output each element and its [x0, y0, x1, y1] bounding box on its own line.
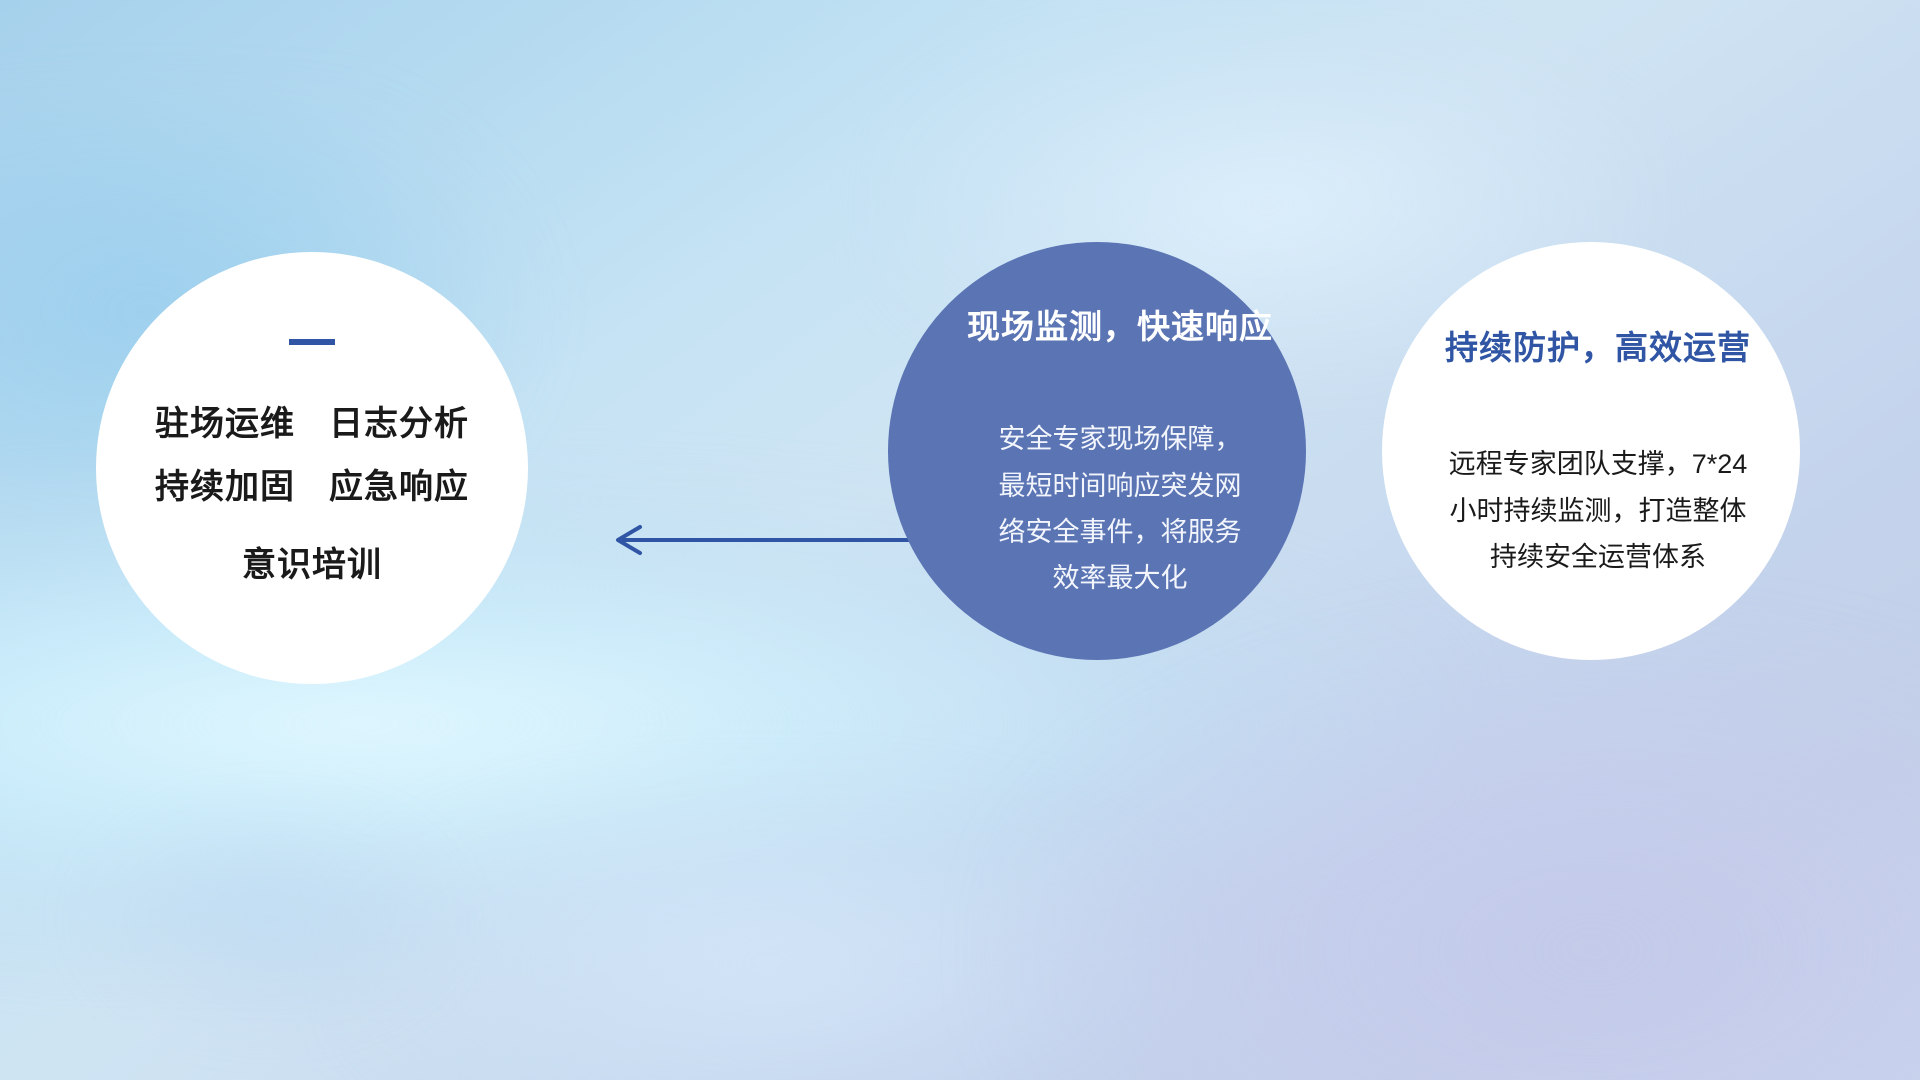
onsite-title: 现场监测，快速响应: [967, 300, 1273, 348]
onsite-monitoring-circle[interactable]: 现场监测，快速响应 安全专家现场保障， 最短时间响应突发网 络安全事件，将服务 …: [888, 242, 1306, 660]
skill-tag-group: 驻场运维 日志分析 持续加固 应急响应 意识培训: [155, 393, 469, 598]
continuous-protection-circle[interactable]: 持续防护，高效运营 远程专家团队支撑，7*24 小时持续监测，打造整体 持续安全…: [1382, 242, 1800, 660]
leftward-flow-arrow: [600, 520, 920, 560]
background-glow-bottom-left: [77, 799, 461, 1037]
onsite-description-line: 最短时间响应突发网: [970, 463, 1270, 509]
ops-content: 持续防护，高效运营 远程专家团队支撑，7*24 小时持续监测，打造整体 持续安全…: [1409, 321, 1773, 580]
onsite-description-line: 络安全事件，将服务: [970, 509, 1270, 555]
onsite-description-line: 安全专家现场保障，: [970, 416, 1270, 462]
skill-tag[interactable]: 应急响应: [329, 456, 469, 519]
skill-row: 驻场运维 日志分析: [155, 393, 469, 456]
onsite-description-line: 效率最大化: [970, 555, 1270, 601]
ops-description: 远程专家团队支撑，7*24 小时持续监测，打造整体 持续安全运营体系: [1422, 441, 1774, 580]
skill-row: 持续加固 应急响应: [155, 456, 469, 519]
onsite-description: 安全专家现场保障， 最短时间响应突发网 络安全事件，将服务 效率最大化: [970, 416, 1270, 602]
background-glow-bottom-right: [998, 626, 1920, 1080]
capability-skills-circle[interactable]: 驻场运维 日志分析 持续加固 应急响应 意识培训: [96, 252, 528, 684]
onsite-content: 现场监测，快速响应 安全专家现场保障， 最短时间响应突发网 络安全事件，将服务 …: [909, 300, 1285, 602]
ops-description-line: 小时持续监测，打造整体: [1422, 488, 1774, 534]
skill-tag[interactable]: 持续加固: [155, 456, 295, 519]
accent-dash-divider: [289, 339, 335, 345]
ops-title: 持续防护，高效运营: [1445, 321, 1751, 369]
ops-description-line: 远程专家团队支撑，7*24: [1422, 441, 1774, 487]
ops-description-line: 持续安全运营体系: [1422, 534, 1774, 580]
skill-tag[interactable]: 日志分析: [329, 393, 469, 456]
skill-row: 意识培训: [155, 534, 469, 597]
skill-tag[interactable]: 驻场运维: [155, 393, 295, 456]
skill-tag[interactable]: 意识培训: [242, 534, 382, 597]
